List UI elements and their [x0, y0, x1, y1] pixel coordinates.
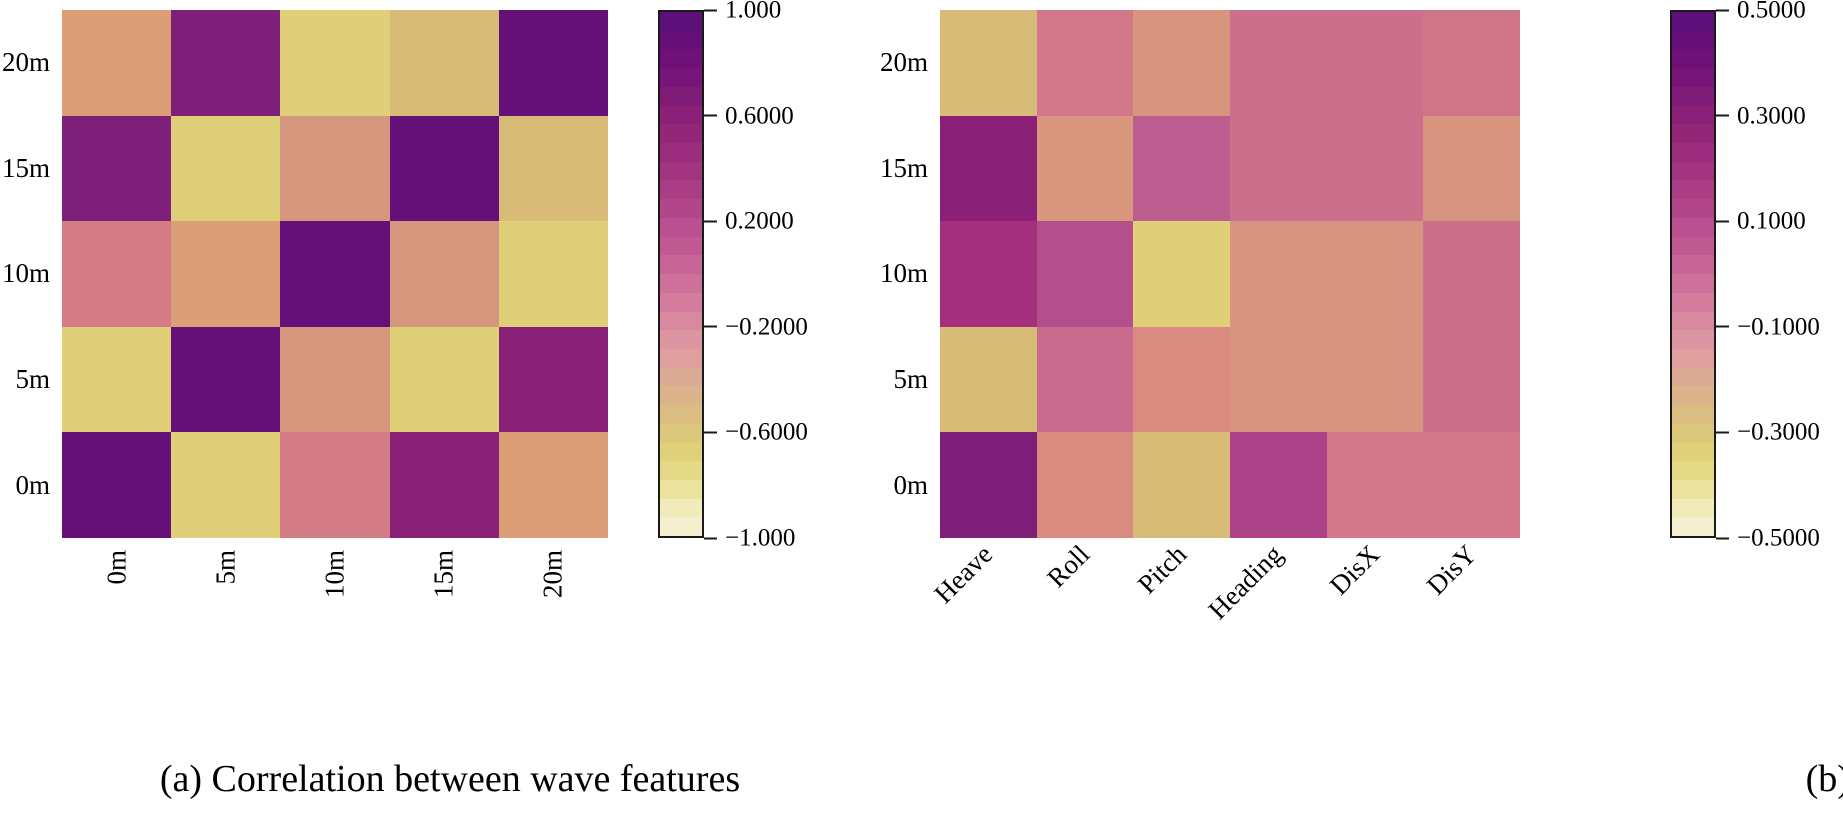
- colorbar-tick: 0.1000: [1716, 209, 1806, 234]
- colorbar-step: [660, 68, 702, 87]
- panel-b-caption: (b) Correlation between wave and ship mo…: [1660, 759, 1843, 801]
- heatmap-cell: [1133, 116, 1230, 222]
- heatmap-cell: [171, 116, 280, 222]
- tick-mark-icon: [704, 9, 717, 11]
- colorbar-tick-label: 0.2000: [725, 209, 794, 234]
- heatmap-cell: [390, 10, 499, 116]
- x-tick-label: 0m: [103, 550, 130, 585]
- heatmap-cell: [62, 116, 171, 222]
- colorbar-tick: 0.6000: [704, 103, 794, 128]
- colorbar-step: [1672, 349, 1714, 368]
- y-tick-label: 5m: [0, 327, 62, 433]
- colorbar-step: [1672, 162, 1714, 181]
- colorbar-step: [660, 312, 702, 331]
- heatmap-cell: [1037, 116, 1134, 222]
- colorbar-step: [1672, 368, 1714, 387]
- colorbar-step: [660, 162, 702, 181]
- colorbar-tick: −0.1000: [1716, 314, 1820, 339]
- colorbar-tick: 0.5000: [1716, 0, 1806, 23]
- heatmap-cell: [940, 116, 1037, 222]
- tick-mark-icon: [1716, 537, 1729, 539]
- colorbar-step: [660, 424, 702, 443]
- x-tick: 0m: [62, 544, 171, 654]
- x-tick-label: Pitch: [1133, 540, 1191, 598]
- heatmap-cell: [280, 10, 389, 116]
- y-tick-label: 15m: [0, 116, 62, 222]
- colorbar-step: [660, 368, 702, 387]
- heatmap-cell: [1230, 221, 1327, 327]
- colorbar-tick: −0.5000: [1716, 526, 1820, 551]
- x-tick: 15m: [390, 544, 499, 654]
- x-tick: DisY: [1423, 544, 1520, 654]
- x-tick: Heading: [1230, 544, 1327, 654]
- x-tick-label: Heave: [930, 540, 998, 608]
- colorbar-step: [1672, 199, 1714, 218]
- colorbar-tick-label: 0.3000: [1737, 103, 1806, 128]
- colorbar-step: [1672, 68, 1714, 87]
- tick-mark-icon: [1716, 220, 1729, 222]
- heatmap-cell: [1133, 432, 1230, 538]
- heatmap-cell: [62, 221, 171, 327]
- colorbar-step: [660, 143, 702, 162]
- heatmap-cell: [390, 432, 499, 538]
- colorbar-step: [660, 124, 702, 143]
- colorbar-step: [1672, 443, 1714, 462]
- heatmap-cell: [280, 221, 389, 327]
- colorbar-tick-label: −0.3000: [1737, 420, 1820, 445]
- colorbar-step: [660, 106, 702, 125]
- heatmap-cell: [390, 116, 499, 222]
- colorbar-step: [1672, 424, 1714, 443]
- heatmap-cell: [171, 432, 280, 538]
- colorbar-step: [1672, 517, 1714, 536]
- colorbar-step: [660, 31, 702, 50]
- heatmap-cell: [1327, 10, 1424, 116]
- heatmap-cell: [1037, 327, 1134, 433]
- x-tick-label: 10m: [322, 550, 349, 598]
- colorbar-step: [1672, 293, 1714, 312]
- colorbar-step: [660, 49, 702, 68]
- colorbar-step: [1672, 49, 1714, 68]
- y-tick-label: 20m: [0, 10, 62, 116]
- tick-mark-icon: [704, 220, 717, 222]
- x-tick-label: 20m: [540, 550, 567, 598]
- heatmap-cell: [62, 327, 171, 433]
- figure-root: 20m 15m 10m 5m 0m 0m 5m 10m 15m 20m 1.00…: [0, 0, 1843, 819]
- colorbar-step: [660, 180, 702, 199]
- colorbar-b-ticks: 0.50000.30000.1000−0.1000−0.3000−0.5000: [1716, 10, 1843, 538]
- colorbar-b-gradient: [1672, 12, 1714, 536]
- colorbar-step: [660, 87, 702, 106]
- heatmap-cell: [499, 327, 608, 433]
- colorbar-b-box: [1670, 10, 1716, 538]
- colorbar-step: [660, 218, 702, 237]
- heatmap-cell: [1133, 221, 1230, 327]
- colorbar-step: [1672, 12, 1714, 31]
- panel-a-x-axis: 0m 5m 10m 15m 20m: [62, 544, 608, 654]
- colorbar-tick: −0.3000: [1716, 420, 1820, 445]
- heatmap-cell: [390, 221, 499, 327]
- tick-mark-icon: [1716, 9, 1729, 11]
- colorbar-step: [1672, 405, 1714, 424]
- colorbar-step: [660, 330, 702, 349]
- panel-a-y-axis: 20m 15m 10m 5m 0m: [0, 10, 62, 538]
- heatmap-cell: [1327, 221, 1424, 327]
- heatmap-cell: [1133, 10, 1230, 116]
- heatmap-cell: [171, 327, 280, 433]
- colorbar-tick: 0.2000: [704, 209, 794, 234]
- heatmap-cell: [499, 116, 608, 222]
- colorbar-step: [1672, 480, 1714, 499]
- colorbar-step: [1672, 386, 1714, 405]
- panel-b-x-axis: Heave Roll Pitch Heading DisX DisY: [940, 544, 1520, 654]
- x-tick-label: 5m: [212, 550, 239, 585]
- heatmap-cell: [280, 432, 389, 538]
- heatmap-cell: [1327, 327, 1424, 433]
- colorbar-step: [660, 480, 702, 499]
- heatmap-cell: [940, 221, 1037, 327]
- x-tick: 10m: [280, 544, 389, 654]
- tick-mark-icon: [704, 326, 717, 328]
- panel-b-colorbar: 0.50000.30000.1000−0.1000−0.3000−0.5000: [1670, 10, 1843, 538]
- colorbar-step: [1672, 143, 1714, 162]
- heatmap-cell: [62, 432, 171, 538]
- colorbar-a-box: [658, 10, 704, 538]
- colorbar-step: [660, 386, 702, 405]
- colorbar-step: [1672, 255, 1714, 274]
- heatmap-cell: [62, 10, 171, 116]
- x-tick-label: 15m: [431, 550, 458, 598]
- y-tick-label: 20m: [830, 10, 940, 116]
- heatmap-cell: [171, 10, 280, 116]
- panel-a-heatmap: [62, 10, 608, 538]
- colorbar-tick: −0.2000: [704, 314, 808, 339]
- heatmap-cell: [499, 10, 608, 116]
- colorbar-step: [1672, 461, 1714, 480]
- heatmap-grid-b: [940, 10, 1520, 538]
- tick-mark-icon: [1716, 115, 1729, 117]
- heatmap-cell: [1327, 432, 1424, 538]
- tick-mark-icon: [704, 115, 717, 117]
- heatmap-cell: [499, 221, 608, 327]
- heatmap-cell: [1423, 327, 1520, 433]
- x-tick: Roll: [1037, 544, 1134, 654]
- colorbar-tick-label: −1.000: [725, 526, 795, 551]
- y-tick-label: 10m: [0, 221, 62, 327]
- heatmap-cell: [940, 10, 1037, 116]
- heatmap-cell: [280, 116, 389, 222]
- colorbar-tick-label: −0.2000: [725, 314, 808, 339]
- colorbar-step: [660, 12, 702, 31]
- panel-b: 20m 15m 10m 5m 0m Heave Roll Pitch Headi…: [830, 0, 1843, 819]
- x-tick: DisX: [1327, 544, 1424, 654]
- x-tick-label: DisX: [1325, 540, 1384, 599]
- heatmap-cell: [1230, 116, 1327, 222]
- tick-mark-icon: [1716, 431, 1729, 433]
- colorbar-step: [1672, 330, 1714, 349]
- panel-a-caption: (a) Correlation between wave features: [0, 759, 900, 801]
- heatmap-cell: [940, 432, 1037, 538]
- tick-mark-icon: [704, 537, 717, 539]
- colorbar-step: [660, 199, 702, 218]
- y-tick-label: 0m: [0, 432, 62, 538]
- panel-a-colorbar: 1.0000.60000.2000−0.2000−0.6000−1.000: [658, 10, 858, 538]
- heatmap-cell: [1423, 432, 1520, 538]
- colorbar-step: [660, 443, 702, 462]
- colorbar-step: [660, 349, 702, 368]
- tick-mark-icon: [704, 431, 717, 433]
- tick-mark-icon: [1716, 326, 1729, 328]
- colorbar-tick-label: 0.5000: [1737, 0, 1806, 23]
- heatmap-cell: [1037, 221, 1134, 327]
- x-tick-label: DisY: [1422, 540, 1481, 599]
- colorbar-step: [660, 274, 702, 293]
- heatmap-cell: [1133, 327, 1230, 433]
- colorbar-tick-label: −0.6000: [725, 420, 808, 445]
- panel-b-heatmap: [940, 10, 1520, 538]
- colorbar-step: [1672, 499, 1714, 518]
- heatmap-cell: [280, 327, 389, 433]
- heatmap-cell: [1230, 432, 1327, 538]
- colorbar-step: [1672, 218, 1714, 237]
- heatmap-cell: [390, 327, 499, 433]
- heatmap-grid-a: [62, 10, 608, 538]
- colorbar-step: [660, 461, 702, 480]
- y-tick-label: 0m: [830, 432, 940, 538]
- x-tick: 20m: [499, 544, 608, 654]
- heatmap-cell: [1423, 10, 1520, 116]
- colorbar-tick: 0.3000: [1716, 103, 1806, 128]
- colorbar-step: [660, 405, 702, 424]
- heatmap-cell: [499, 432, 608, 538]
- colorbar-step: [1672, 87, 1714, 106]
- colorbar-step: [1672, 312, 1714, 331]
- colorbar-step: [1672, 106, 1714, 125]
- colorbar-step: [660, 517, 702, 536]
- heatmap-cell: [1327, 116, 1424, 222]
- colorbar-step: [660, 237, 702, 256]
- y-tick-label: 15m: [830, 116, 940, 222]
- colorbar-step: [660, 293, 702, 312]
- colorbar-step: [1672, 237, 1714, 256]
- heatmap-cell: [1230, 10, 1327, 116]
- colorbar-tick-label: −0.1000: [1737, 314, 1820, 339]
- colorbar-step: [1672, 180, 1714, 199]
- heatmap-cell: [1423, 116, 1520, 222]
- y-tick-label: 10m: [830, 221, 940, 327]
- colorbar-tick: −0.6000: [704, 420, 808, 445]
- heatmap-cell: [1037, 10, 1134, 116]
- x-tick: 5m: [171, 544, 280, 654]
- colorbar-a-gradient: [660, 12, 702, 536]
- heatmap-cell: [171, 221, 280, 327]
- y-tick-label: 5m: [830, 327, 940, 433]
- panel-b-y-axis: 20m 15m 10m 5m 0m: [830, 10, 940, 538]
- heatmap-cell: [1423, 221, 1520, 327]
- colorbar-step: [660, 499, 702, 518]
- colorbar-tick: 1.000: [704, 0, 781, 23]
- colorbar-tick-label: 0.1000: [1737, 209, 1806, 234]
- x-tick: Heave: [940, 544, 1037, 654]
- heatmap-cell: [940, 327, 1037, 433]
- colorbar-step: [660, 255, 702, 274]
- panel-a: 20m 15m 10m 5m 0m 0m 5m 10m 15m 20m 1.00…: [0, 0, 900, 819]
- heatmap-cell: [1230, 327, 1327, 433]
- heatmap-cell: [1037, 432, 1134, 538]
- colorbar-tick-label: −0.5000: [1737, 526, 1820, 551]
- colorbar-tick-label: 1.000: [725, 0, 781, 23]
- colorbar-step: [1672, 124, 1714, 143]
- colorbar-step: [1672, 274, 1714, 293]
- colorbar-tick: −1.000: [704, 526, 795, 551]
- colorbar-step: [1672, 31, 1714, 50]
- x-tick-label: Roll: [1043, 540, 1095, 592]
- colorbar-tick-label: 0.6000: [725, 103, 794, 128]
